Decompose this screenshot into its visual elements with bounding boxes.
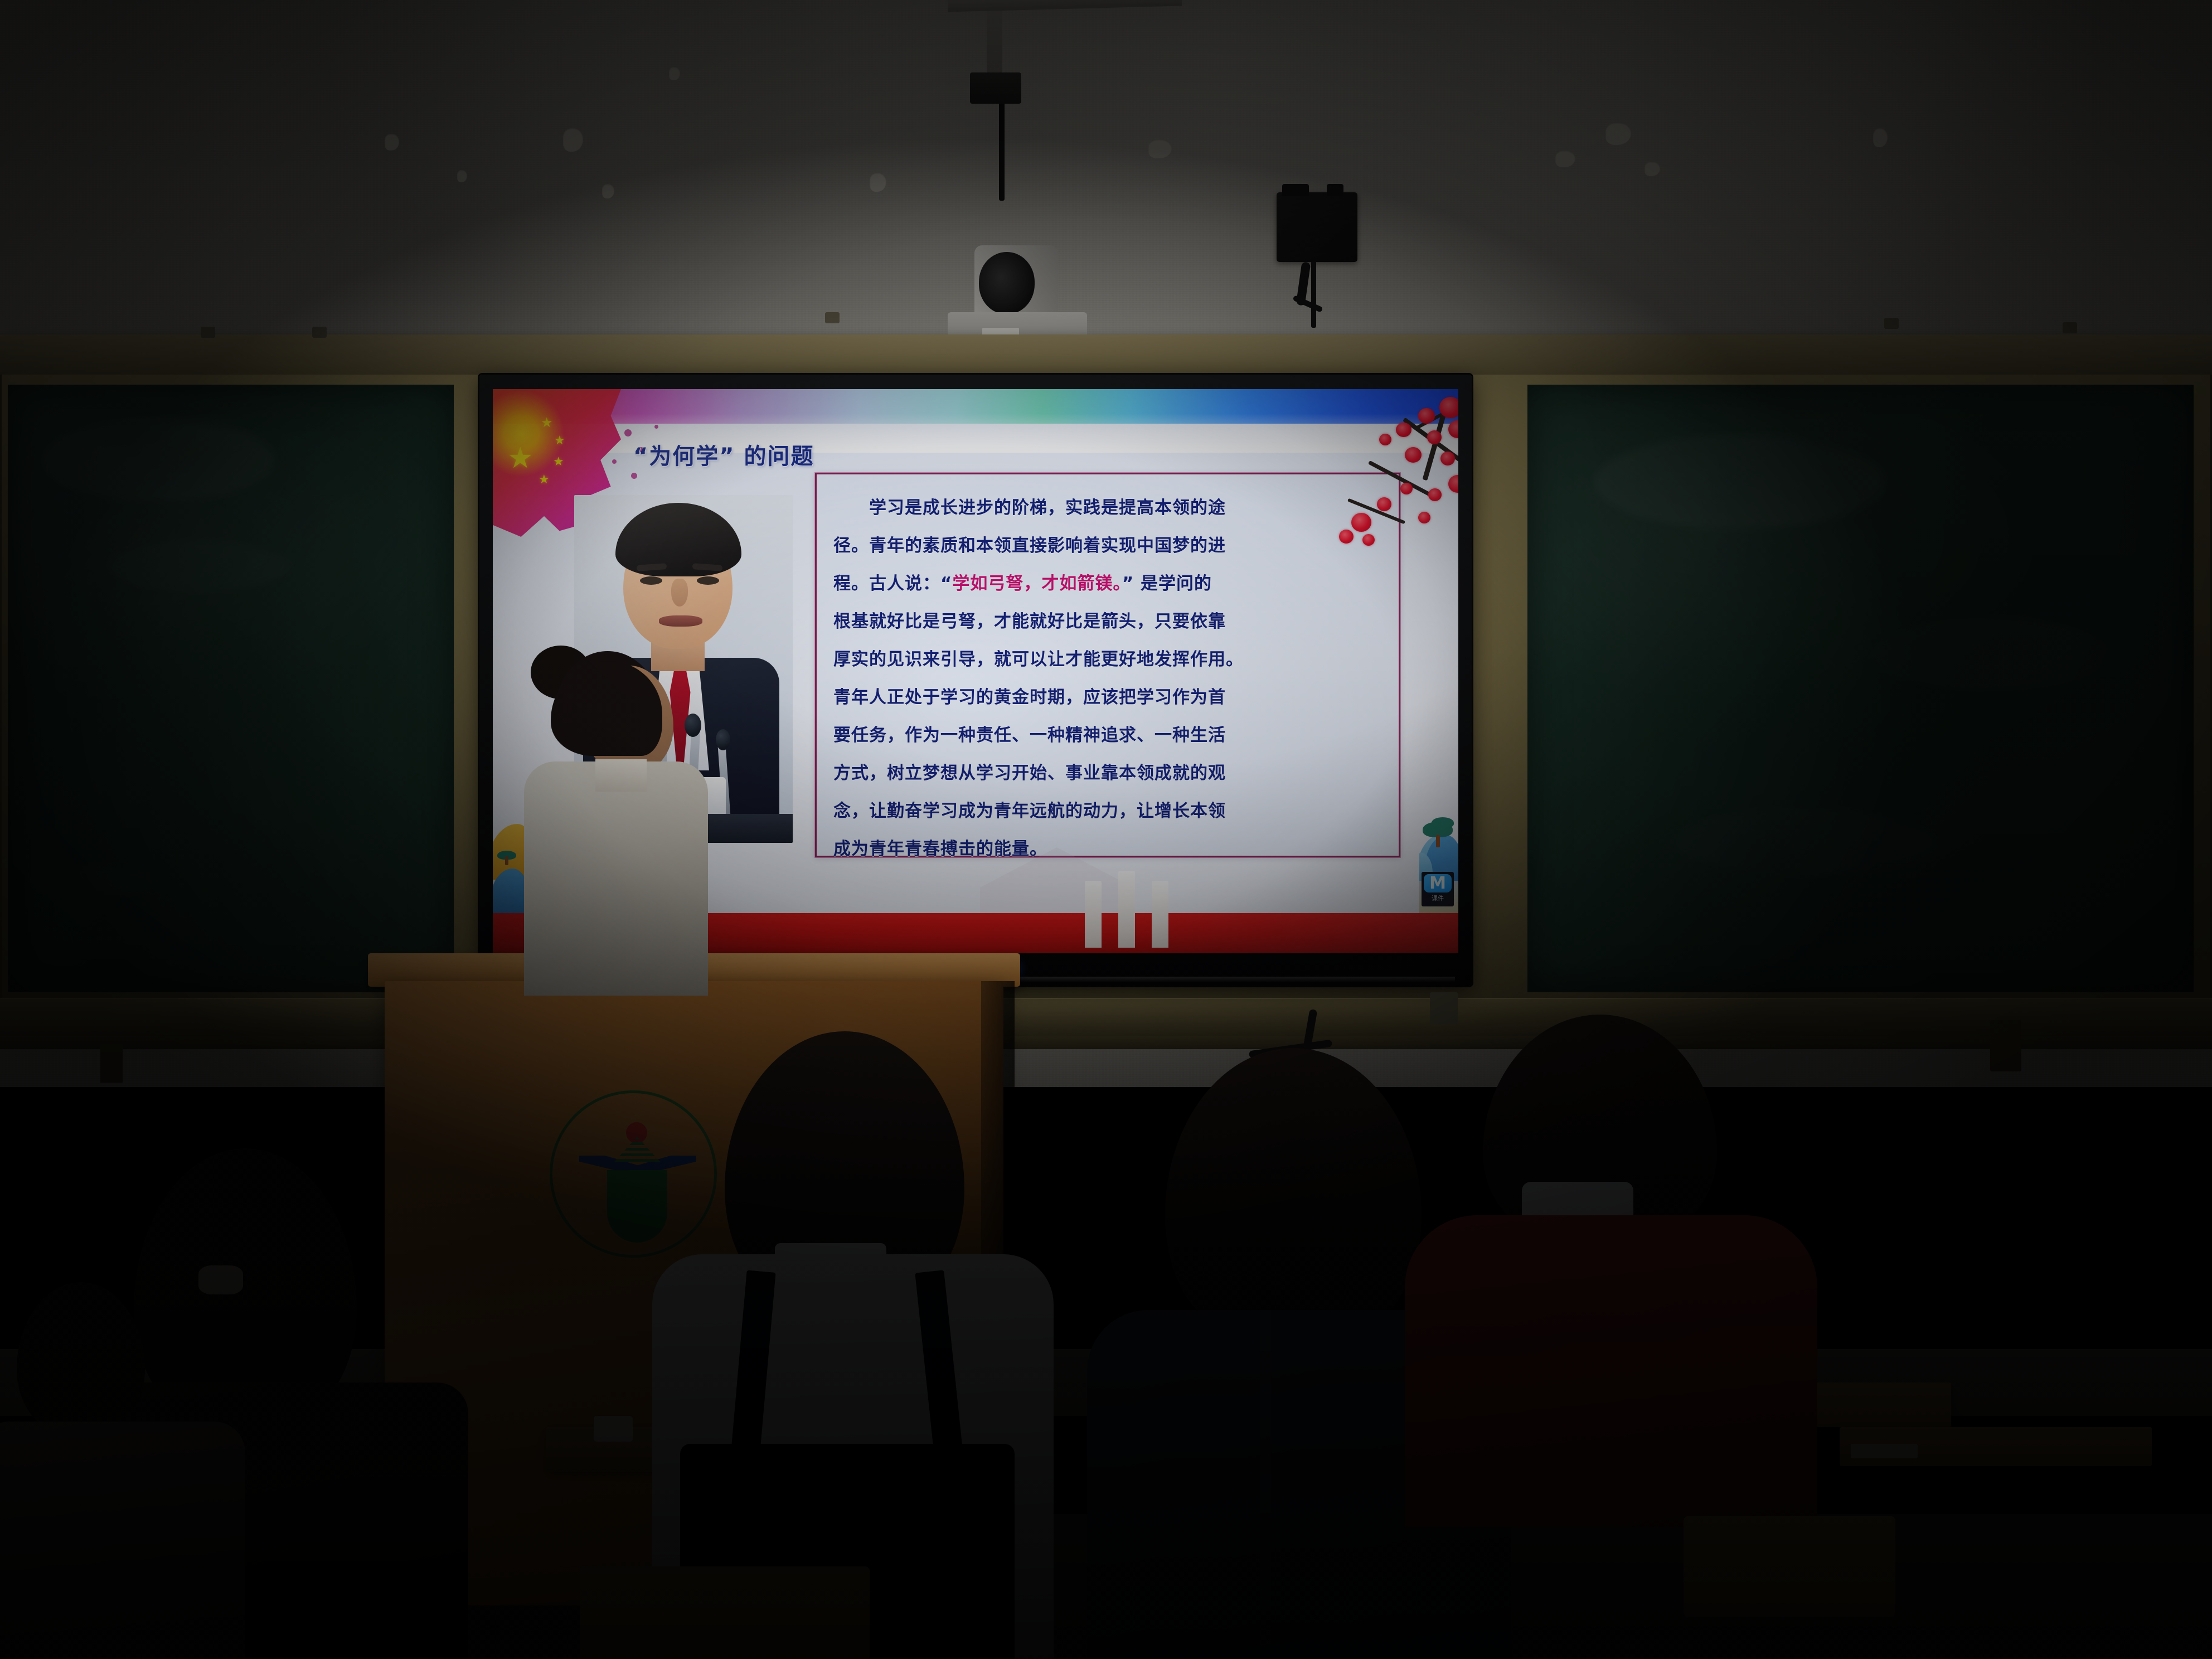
- scene-vignette: [0, 0, 2212, 1659]
- classroom-scene: ★ ★ ★ ★ ★ “为何学” 的问题: [0, 0, 2212, 1659]
